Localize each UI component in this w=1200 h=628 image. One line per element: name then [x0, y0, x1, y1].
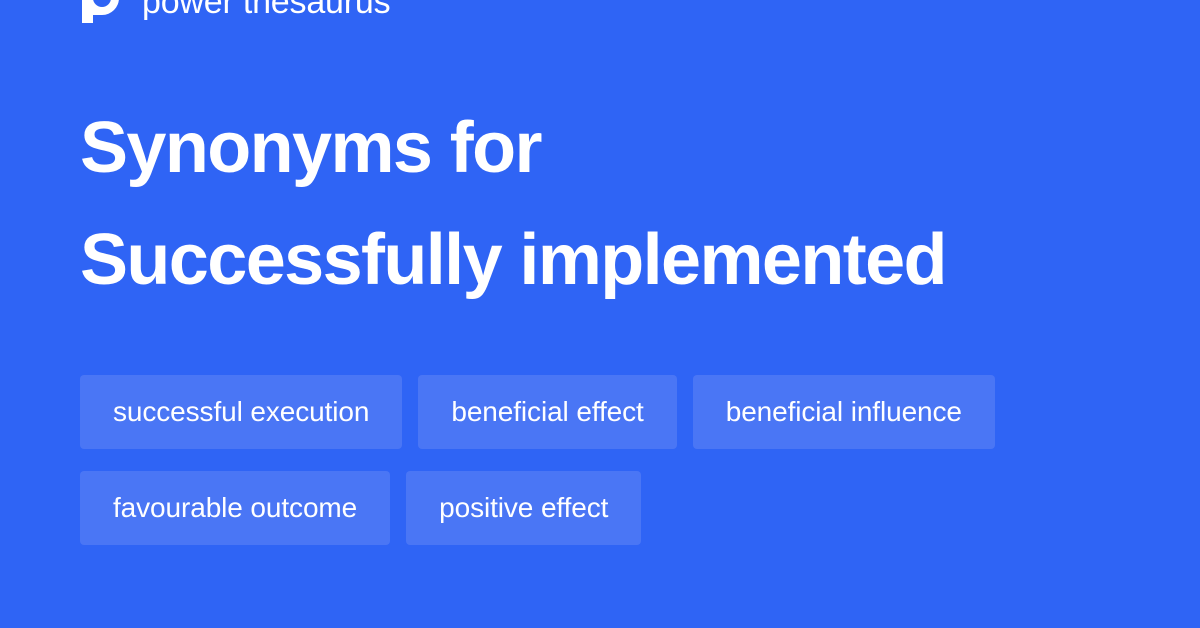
page-title-line-1: Synonyms for: [80, 92, 1140, 204]
synonym-chip-label: beneficial effect: [451, 398, 643, 426]
share-card: power thesaurus Synonyms for Successfull…: [0, 0, 1200, 628]
synonym-chip[interactable]: beneficial effect: [418, 375, 676, 449]
synonym-chip[interactable]: successful execution: [80, 375, 402, 449]
page-title: Synonyms for Successfully implemented: [80, 92, 1140, 316]
brand-header[interactable]: power thesaurus: [78, 0, 390, 28]
synonym-chip-label: favourable outcome: [113, 494, 357, 522]
synonym-chip[interactable]: positive effect: [406, 471, 641, 545]
synonym-chip[interactable]: beneficial influence: [693, 375, 995, 449]
power-thesaurus-p-logo-icon: [78, 0, 124, 25]
brand-wordmark: power thesaurus: [142, 0, 390, 25]
synonym-chip-list: successful executionbeneficial effectben…: [80, 375, 1140, 545]
synonym-chip-label: successful execution: [113, 398, 369, 426]
page-title-line-2: Successfully implemented: [80, 204, 1140, 316]
synonym-chip[interactable]: favourable outcome: [80, 471, 390, 545]
synonym-chip-label: beneficial influence: [726, 398, 962, 426]
synonym-chip-label: positive effect: [439, 494, 608, 522]
